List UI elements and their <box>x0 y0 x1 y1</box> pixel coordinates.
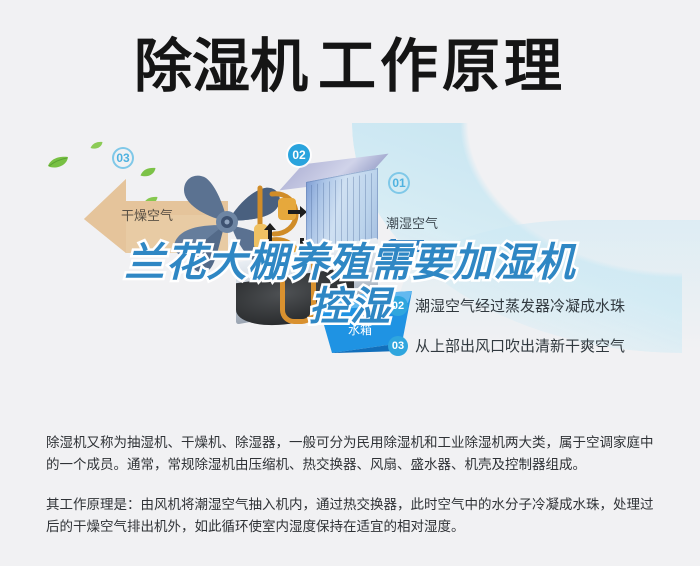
body-copy: 除湿机又称为抽湿机、干燥机、除湿器，一般可分为民用除湿机和工业除湿机两大类，属于… <box>46 418 658 551</box>
list-item: 03 从上部出风口吹出清新干爽空气 <box>388 332 688 359</box>
paragraph-two: 其工作原理是：由风机将潮湿空气抽入机内，通过热交换器，此时空气中的水分子冷凝成水… <box>46 494 658 538</box>
heat-exchanger-badge: 02 <box>288 144 310 166</box>
step-text: 从上部出风口吹出清新干爽空气 <box>415 335 625 356</box>
humid-air-label: 潮湿空气 <box>386 213 438 232</box>
humid-air-badge: 01 <box>388 172 410 194</box>
humid-air-inflow-arrow <box>378 239 424 253</box>
page-title: 除湿机工作原理 <box>0 28 700 106</box>
water-tank-label: 水箱 <box>348 321 372 338</box>
list-item: 02 潮湿空气经过蒸发器冷凝成水珠 <box>388 292 688 319</box>
leaf-icon <box>90 137 103 155</box>
step-text: 潮湿空气经过蒸发器冷凝成水珠 <box>415 295 625 316</box>
dehumidifier-infographic: 除湿机工作原理 03 干燥空气 <box>0 0 700 566</box>
step-badge: 03 <box>388 336 408 356</box>
dry-air-badge: 03 <box>112 147 134 169</box>
paragraph-one: 除湿机又称为抽湿机、干燥机、除湿器，一般可分为民用除湿机和工业除湿机两大类，属于… <box>46 432 658 476</box>
process-steps-list: 01 机器内置风机将潮湿空气抽入机内 02 潮湿空气经过蒸发器冷凝成水珠 03 … <box>388 252 688 372</box>
title-part-one: 除湿机 <box>134 34 308 99</box>
step-badge: 02 <box>388 296 408 316</box>
drain-pipe <box>280 245 316 324</box>
title-part-two: 工作原理 <box>318 34 566 99</box>
leaf-icon <box>47 155 69 174</box>
dry-air-label: 干燥空气 <box>121 205 173 224</box>
